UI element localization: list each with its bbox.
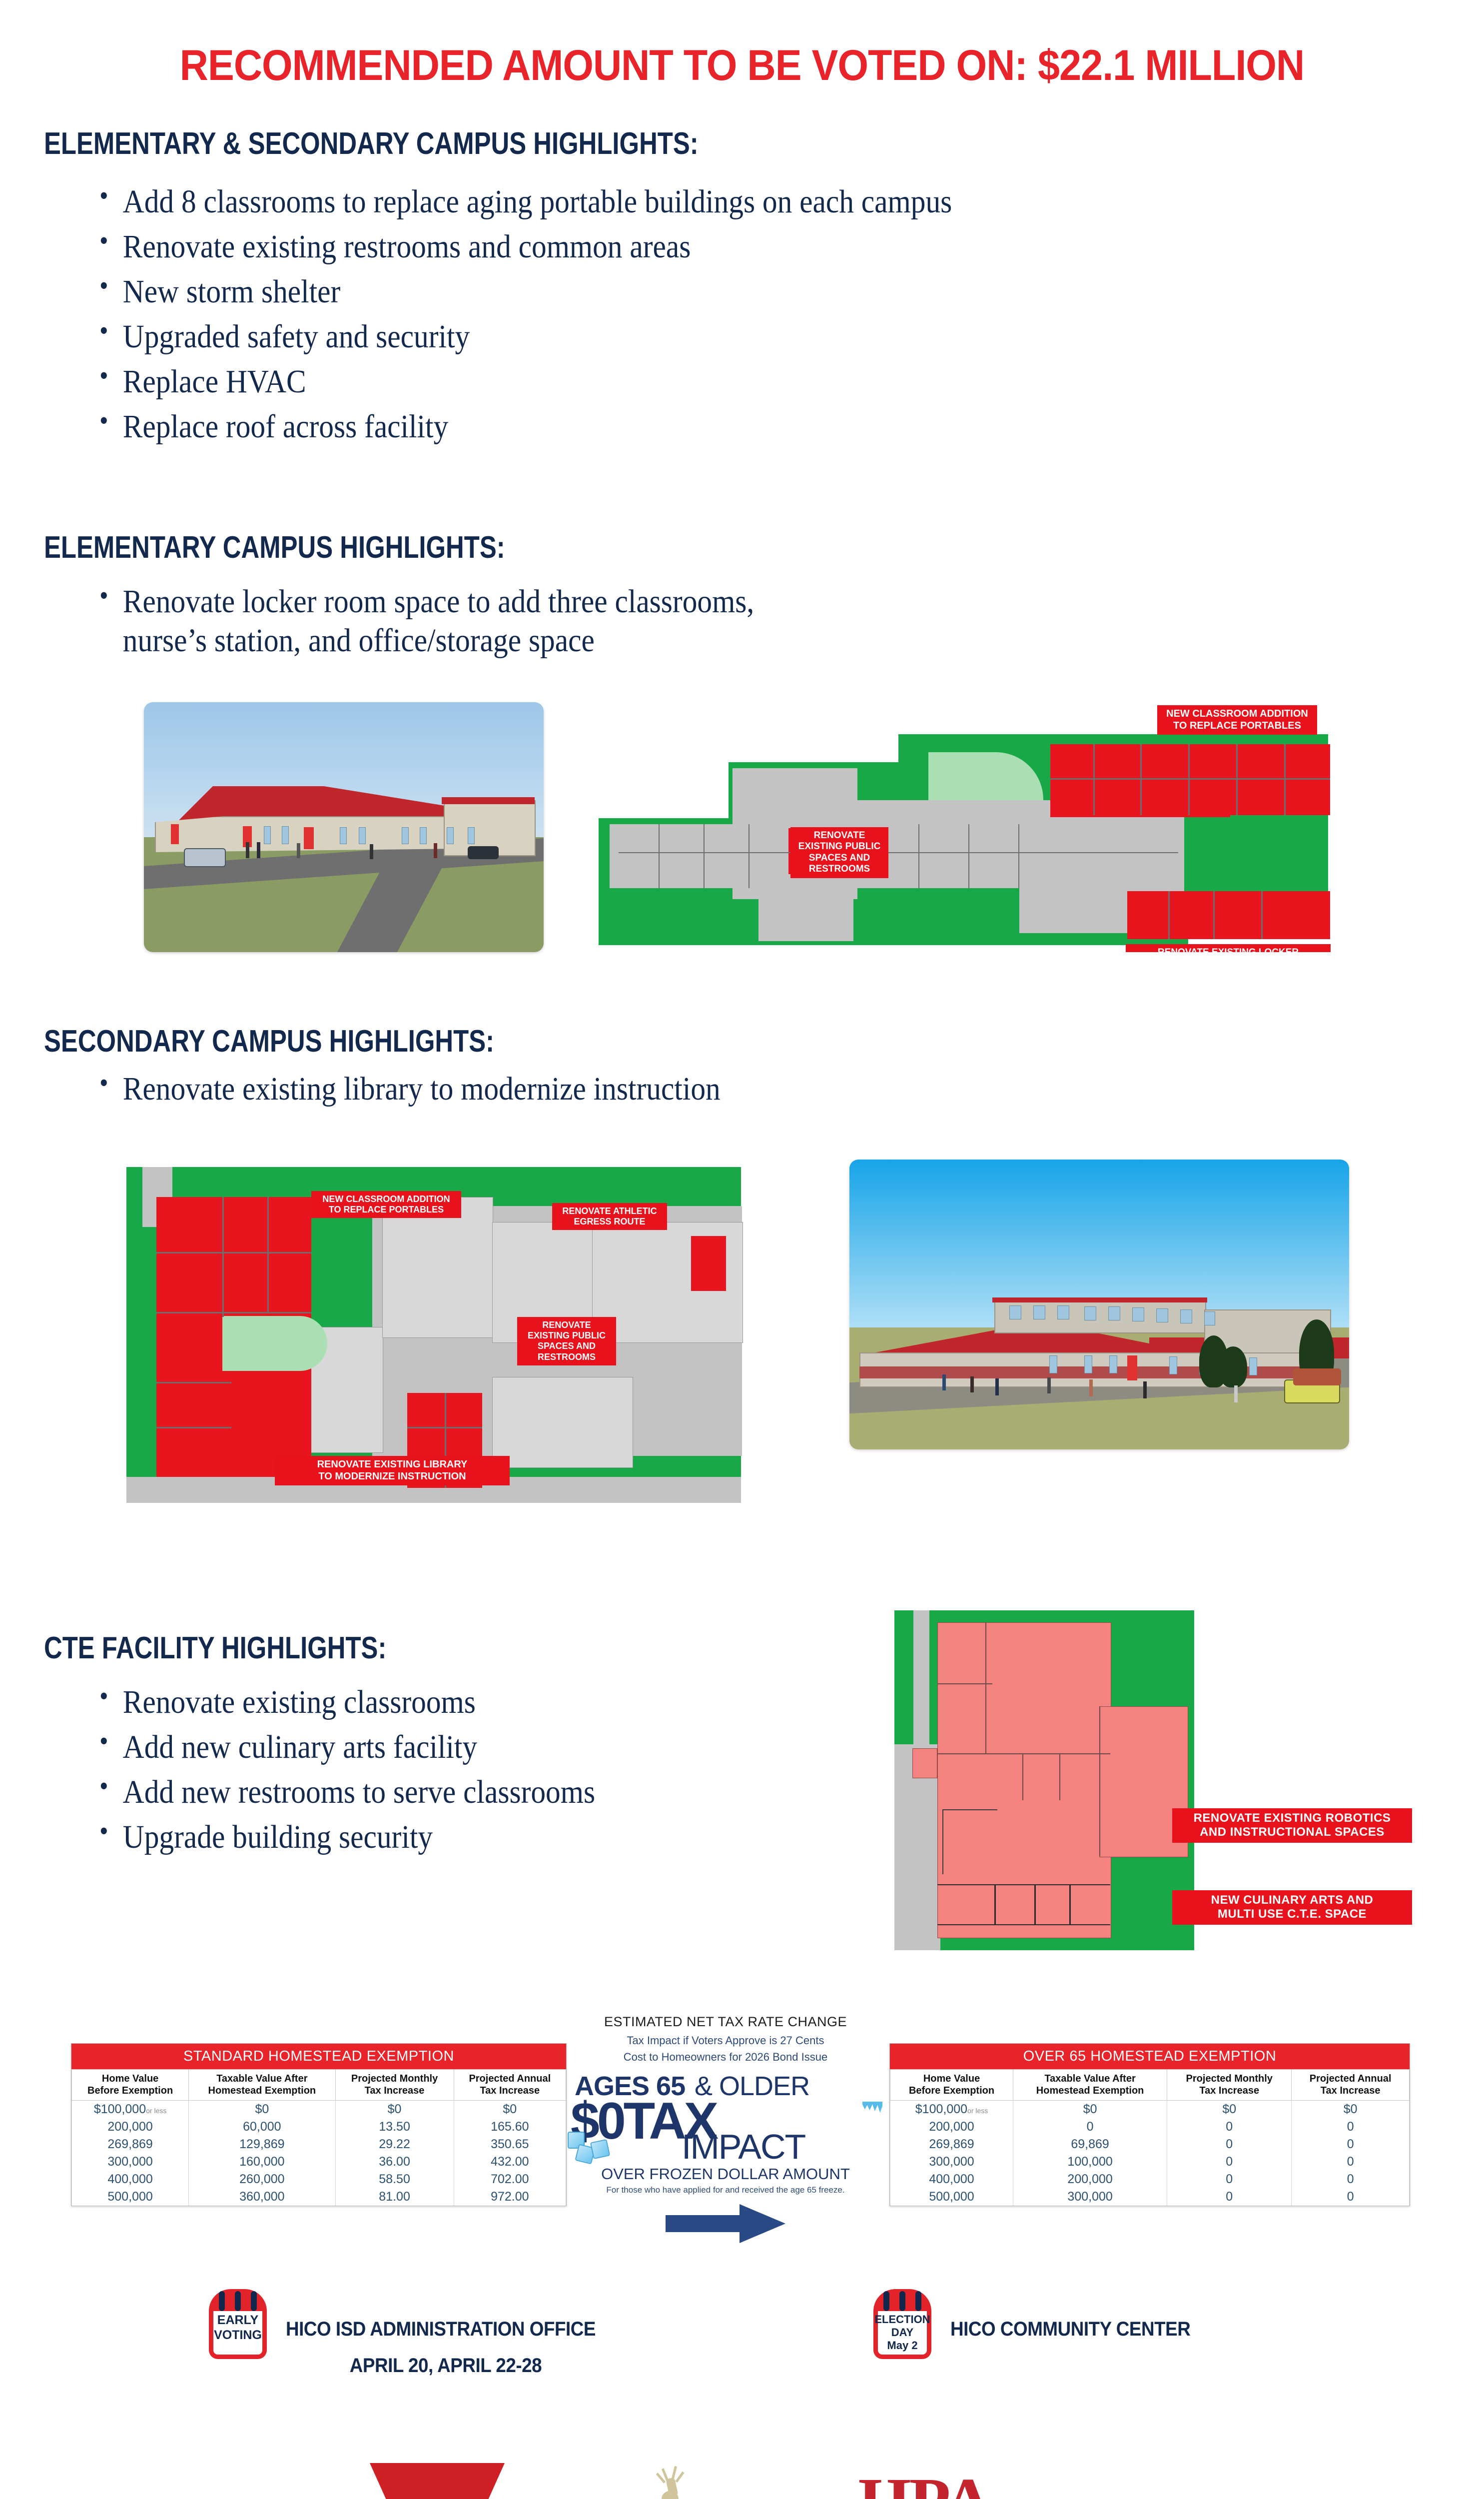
- list-item: Upgraded safety and security: [95, 320, 1327, 354]
- bullet-list-elementary: Renovate locker room space to add three …: [95, 582, 1344, 671]
- plan-tag-renovate-public-spaces: RENOVATE EXISTING PUBLIC SPACES AND REST…: [790, 827, 888, 878]
- section-heading-cte: CTE FACILITY HIGHLIGHTS:: [44, 1630, 386, 1666]
- list-item: Renovate existing library to modernize i…: [95, 1072, 1219, 1106]
- table-row: 300,000 160,000 36.00 432.00: [72, 2153, 566, 2171]
- column-header: Taxable Value After Homestead Exemption: [189, 2070, 335, 2101]
- tax-graphic-line3: Cost to Homeowners for 2026 Bond Issue: [566, 2051, 885, 2064]
- section-heading-elementary-secondary: ELEMENTARY & SECONDARY CAMPUS HIGHLIGHTS…: [44, 126, 699, 161]
- table-row: 500,000 360,000 81.00 972.00: [72, 2188, 566, 2206]
- list-item: Replace HVAC: [95, 365, 1327, 399]
- plan-tag-renovate-robotics: RENOVATE EXISTING ROBOTICS AND INSTRUCTI…: [1172, 1808, 1412, 1843]
- bond-flyer-page: RECOMMENDED AMOUNT TO BE VOTED ON: $22.1…: [0, 0, 1484, 2499]
- right-arrow-icon: [666, 2204, 785, 2243]
- icicle-icon: [862, 2102, 882, 2113]
- table-title: OVER 65 HOMESTEAD EXEMPTION: [890, 2044, 1410, 2069]
- plan-tag-renovate-locker-rooms: RENOVATE EXISTING LOCKER ROOMS INTO NEW …: [1126, 944, 1331, 952]
- list-item: Replace roof across facility: [95, 410, 1327, 444]
- list-item: New storm shelter: [95, 275, 1327, 309]
- election-day-location: HICO COMMUNITY CENTER: [950, 2318, 1190, 2341]
- column-header: Home Value Before Exemption: [72, 2070, 189, 2101]
- elementary-floor-plan: NEW CLASSROOM ADDITION TO REPLACE PORTAB…: [589, 702, 1343, 952]
- list-item: Renovate existing classrooms: [95, 1685, 796, 1719]
- election-day-badge-label: ELECTION DAY May 2: [870, 2313, 934, 2352]
- table-over65: Home Value Before Exemption Taxable Valu…: [890, 2069, 1410, 2206]
- table-row: 200,000 60,000 13.50 165.60: [72, 2118, 566, 2136]
- plan-tag-new-classroom-addition-secondary: NEW CLASSROOM ADDITION TO REPLACE PORTAB…: [311, 1191, 461, 1218]
- table-row: 300,000 100,000 0 0: [890, 2153, 1410, 2171]
- section-heading-elementary: ELEMENTARY CAMPUS HIGHLIGHTS:: [44, 530, 505, 565]
- table-row: 400,000 260,000 58.50 702.00: [72, 2171, 566, 2188]
- list-item: Add new restrooms to serve classrooms: [95, 1775, 796, 1809]
- table-row: 269,869 129,869 29.22 350.65: [72, 2136, 566, 2153]
- bullet-list-elementary-secondary: Add 8 classrooms to replace aging portab…: [95, 185, 1464, 455]
- list-item: Upgrade building security: [95, 1820, 796, 1854]
- table-row: 200,000 0 0 0: [890, 2118, 1410, 2136]
- table-header-row: Home Value Before Exemption Taxable Valu…: [72, 2070, 566, 2101]
- column-header: Home Value Before Exemption: [890, 2070, 1013, 2101]
- standard-homestead-table: STANDARD HOMESTEAD EXEMPTION Home Value …: [71, 2043, 567, 2206]
- cte-floor-plan: RENOVATE EXISTING ROBOTICS AND INSTRUCTI…: [849, 1574, 1414, 1954]
- column-header: Projected Monthly Tax Increase: [335, 2070, 454, 2101]
- ice-cube-icon: [590, 2139, 610, 2159]
- hpa-logo: HPA ESTABLISHED 1962: [849, 2468, 999, 2499]
- list-item: Renovate locker room space to add three …: [95, 582, 1219, 660]
- list-item: Renovate existing restrooms and common a…: [95, 230, 1327, 264]
- early-voting-badge-label: EARLY VOTING: [206, 2313, 270, 2343]
- early-voting-block: EARLY VOTING HICO ISD ADMINISTRATION OFF…: [206, 2289, 623, 2377]
- early-voting-location: HICO ISD ADMINISTRATION OFFICE: [286, 2318, 596, 2341]
- list-item: Add 8 classrooms to replace aging portab…: [95, 185, 1327, 219]
- secondary-campus-rendering: [849, 1160, 1349, 1449]
- secondary-floor-plan: NEW CLASSROOM ADDITION TO REPLACE PORTAB…: [122, 1147, 767, 1507]
- bullet-list-cte: Renovate existing classrooms Add new cul…: [95, 1685, 874, 1865]
- early-voting-dates: APRIL 20, APRIL 22-28: [299, 2355, 593, 2377]
- plan-tag-renovate-athletic-egress: RENOVATE ATHLETIC EGRESS ROUTE: [552, 1203, 667, 1230]
- table-row: $100,000or less $0 $0 $0: [890, 2101, 1410, 2119]
- table-row: 400,000 200,000 0 0: [890, 2171, 1410, 2188]
- table-row: 269,869 69,869 0 0: [890, 2136, 1410, 2153]
- government-capital-logo: GOVERNMENT CAPITAL CORPORATION: [595, 2463, 744, 2499]
- plan-tag-new-culinary-arts: NEW CULINARY ARTS AND MULTI USE C.T.E. S…: [1172, 1890, 1412, 1925]
- hico-isd-logo: HI·C·O: [370, 2463, 505, 2499]
- elk-icon: [640, 2463, 700, 2499]
- election-day-block: ELECTION DAY May 2 HICO COMMUNITY CENTER: [870, 2289, 1211, 2365]
- plan-tag-renovate-public-spaces-secondary: RENOVATE EXISTING PUBLIC SPACES AND REST…: [517, 1317, 616, 1365]
- table-standard: Home Value Before Exemption Taxable Valu…: [71, 2069, 566, 2206]
- impact-label: IMPACT: [682, 2127, 805, 2167]
- table-header-row: Home Value Before Exemption Taxable Valu…: [890, 2070, 1410, 2101]
- table-title: STANDARD HOMESTEAD EXEMPTION: [71, 2044, 566, 2069]
- tax-graphic-title: ESTIMATED NET TAX RATE CHANGE: [566, 2014, 885, 2030]
- estimated-tax-rate-graphic: ESTIMATED NET TAX RATE CHANGE Tax Impact…: [566, 2014, 885, 2243]
- plan-tag-renovate-library: RENOVATE EXISTING LIBRARY TO MODERNIZE I…: [275, 1456, 510, 1485]
- column-header: Projected Annual Tax Increase: [1292, 2070, 1410, 2101]
- bullet-list-secondary: Renovate existing library to modernize i…: [95, 1072, 1344, 1117]
- early-voting-badge-icon: EARLY VOTING: [206, 2289, 270, 2365]
- age-65-freeze-note: For those who have applied for and recei…: [566, 2185, 885, 2195]
- hpa-logo-text: HPA: [849, 2468, 999, 2499]
- column-header: Projected Monthly Tax Increase: [1167, 2070, 1292, 2101]
- tax-graphic-line2: Tax Impact if Voters Approve is 27 Cents: [566, 2034, 885, 2047]
- election-day-badge-icon: ELECTION DAY May 2: [870, 2289, 934, 2365]
- section-heading-secondary: SECONDARY CAMPUS HIGHLIGHTS:: [44, 1024, 494, 1059]
- column-header: Projected Annual Tax Increase: [454, 2070, 566, 2101]
- table-row: 500,000 300,000 0 0: [890, 2188, 1410, 2206]
- table-row: $100,000or less $0 $0 $0: [72, 2101, 566, 2119]
- page-title: RECOMMENDED AMOUNT TO BE VOTED ON: $22.1…: [59, 41, 1425, 90]
- elementary-campus-rendering: [144, 702, 544, 952]
- over-frozen-dollar-label: OVER FROZEN DOLLAR AMOUNT: [566, 2165, 885, 2183]
- list-item: Add new culinary arts facility: [95, 1730, 796, 1764]
- zero-tax-impact-logo: AGES 65 & OLDER $0TAX IMPACT: [566, 2071, 885, 2163]
- plan-tag-new-classroom-addition: NEW CLASSROOM ADDITION TO REPLACE PORTAB…: [1157, 705, 1317, 735]
- over65-homestead-table: OVER 65 HOMESTEAD EXEMPTION Home Value B…: [889, 2043, 1410, 2206]
- column-header: Taxable Value After Homestead Exemption: [1013, 2070, 1167, 2101]
